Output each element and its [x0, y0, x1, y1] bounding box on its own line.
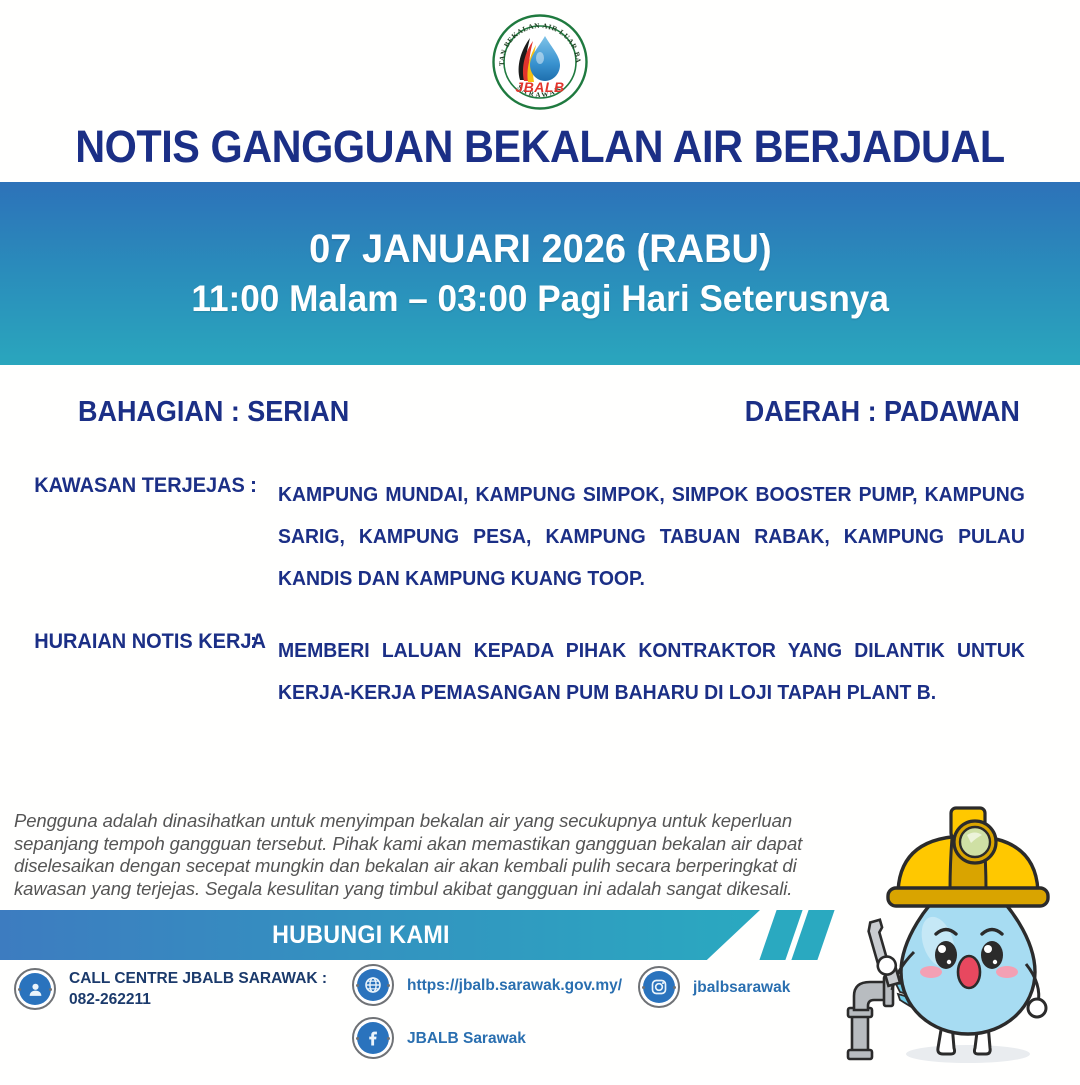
division-row: BAHAGIAN : SERIAN DAERAH : PADAWAN	[0, 396, 1080, 436]
daerah-label: DAERAH : PADAWAN	[745, 396, 1020, 429]
logo-container: JABATAN BEKALAN AIR LUAR BANDAR SARAWAK …	[0, 8, 1080, 116]
website-url[interactable]: https://jbalb.sarawak.gov.my/	[407, 975, 622, 996]
instagram-icon	[638, 966, 680, 1008]
facebook-icon	[352, 1017, 394, 1059]
affected-areas-colon: :	[250, 474, 278, 600]
instagram-handle[interactable]: jbalbsarawak	[693, 977, 790, 998]
affected-areas-row: KAWASAN TERJEJAS : KAMPUNG MUNDAI, KAMPU…	[0, 474, 1080, 600]
water-droplet-mascot-icon	[830, 792, 1080, 1080]
bahagian-label: BAHAGIAN : SERIAN	[78, 396, 349, 429]
call-centre-text: CALL CENTRE JBALB SARAWAK : 082-262211	[69, 968, 327, 1010]
contact-instagram[interactable]: jbalbsarawak	[638, 966, 790, 1008]
notice-poster: JABATAN BEKALAN AIR LUAR BANDAR SARAWAK …	[0, 0, 1080, 1080]
banner-time: 11:00 Malam – 03:00 Pagi Hari Seterusnya	[191, 278, 889, 320]
person-icon	[14, 968, 56, 1010]
page-title: NOTIS GANGGUAN BEKALAN AIR BERJADUAL	[43, 121, 1037, 173]
banner-date: 07 JANUARI 2026 (RABU)	[309, 227, 771, 272]
call-centre-line1: CALL CENTRE JBALB SARAWAK :	[69, 968, 327, 989]
work-description-value: MEMBERI LALUAN KEPADA PIHAK KONTRAKTOR Y…	[278, 630, 1056, 714]
contact-bar: HUBUNGI KAMI	[0, 910, 760, 960]
schedule-banner: 07 JANUARI 2026 (RABU) 11:00 Malam – 03:…	[0, 182, 1080, 365]
globe-icon	[352, 964, 394, 1006]
disclaimer-text: Pengguna adalah dinasihatkan untuk menyi…	[14, 810, 814, 900]
affected-areas-label: KAWASAN TERJEJAS	[0, 474, 238, 600]
jbalb-logo-icon: JABATAN BEKALAN AIR LUAR BANDAR SARAWAK …	[490, 12, 590, 112]
affected-areas-value: KAMPUNG MUNDAI, KAMPUNG SIMPOK, SIMPOK B…	[278, 474, 1056, 600]
facebook-handle[interactable]: JBALB Sarawak	[407, 1028, 526, 1049]
contact-bar-heading: HUBUNGI KAMI	[273, 921, 488, 950]
svg-text:JBALB: JBALB	[515, 79, 564, 95]
contact-facebook[interactable]: JBALB Sarawak	[352, 1017, 526, 1059]
call-centre-number: 082-262211	[69, 989, 327, 1010]
work-description-label: HURAIAN NOTIS KERJA	[0, 630, 238, 714]
contact-call-centre[interactable]: CALL CENTRE JBALB SARAWAK : 082-262211	[14, 968, 327, 1010]
contact-website[interactable]: https://jbalb.sarawak.gov.my/	[352, 964, 622, 1006]
work-description-row: HURAIAN NOTIS KERJA : MEMBERI LALUAN KEP…	[0, 630, 1080, 714]
